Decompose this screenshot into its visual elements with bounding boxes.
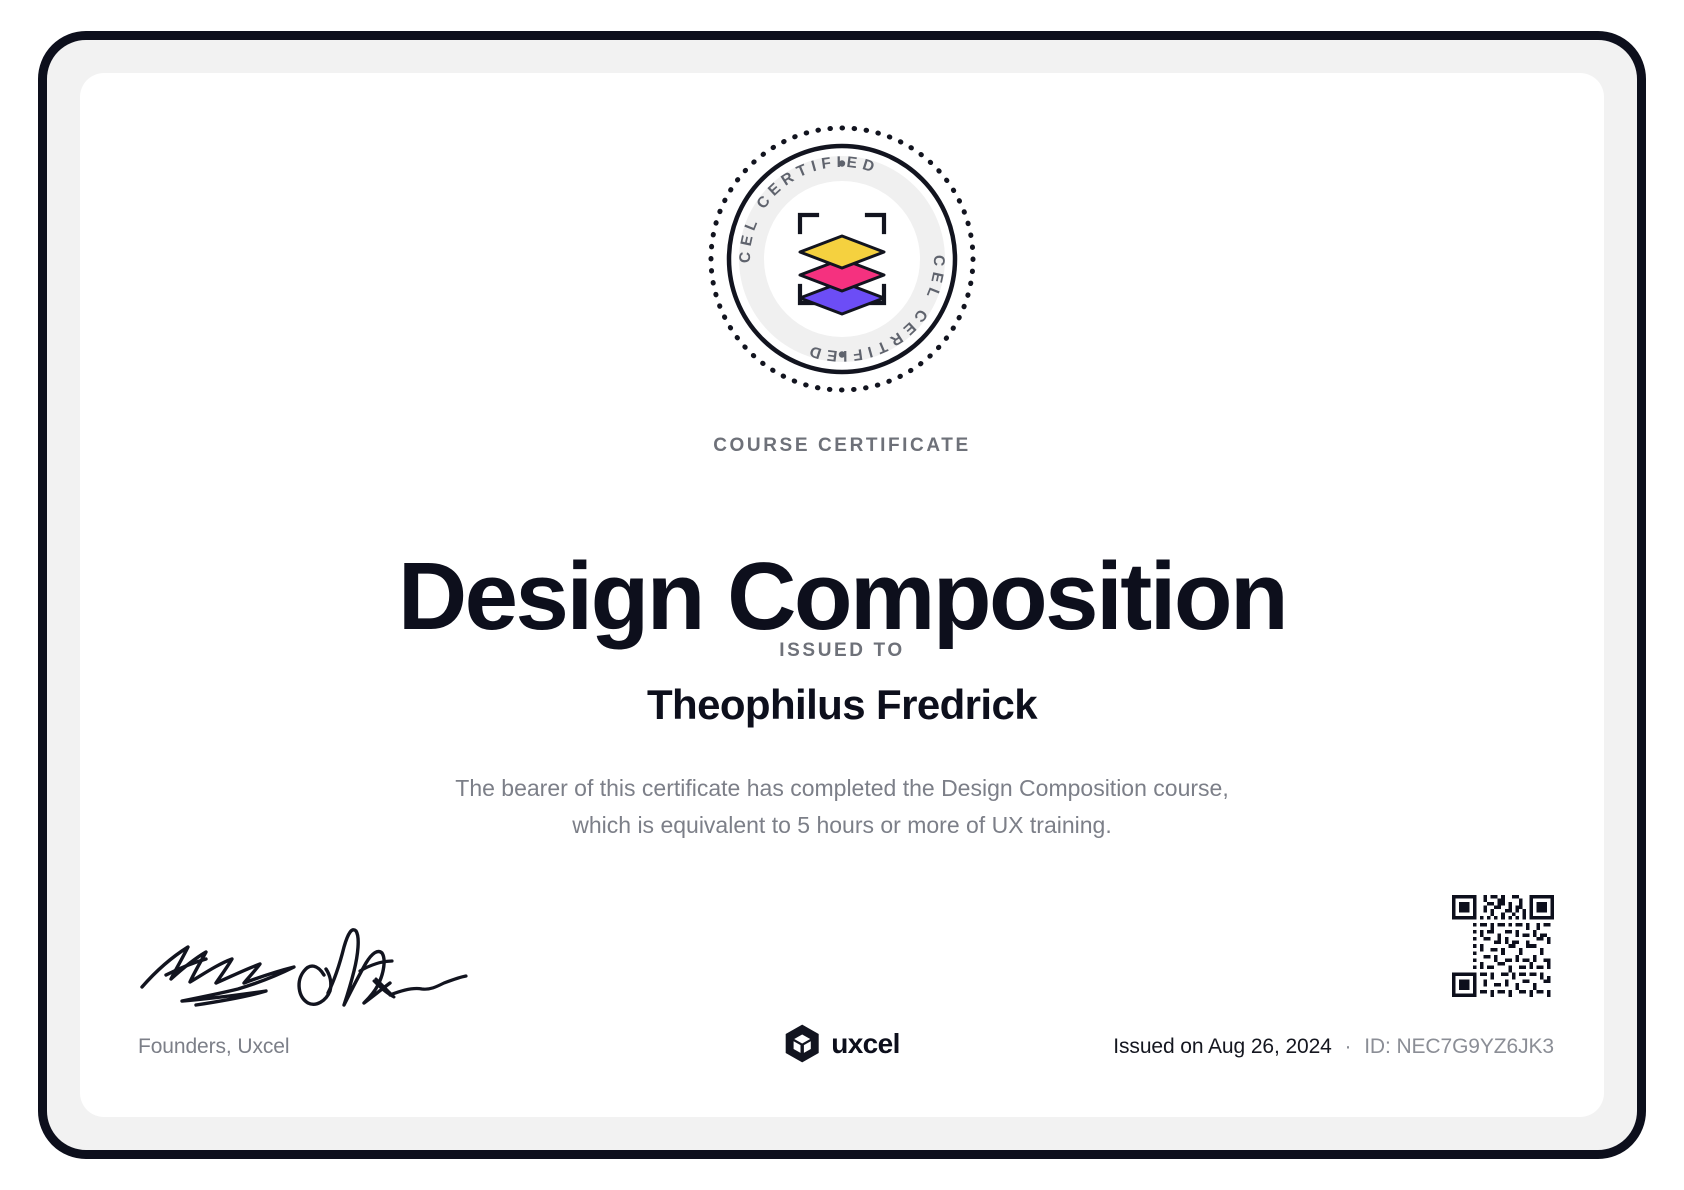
kicker-course-certificate: COURSE CERTIFICATE: [80, 435, 1604, 457]
issue-metadata: Issued on Aug 26, 2024 · ID: NEC7G9YZ6JK…: [1113, 1035, 1554, 1059]
page-title: Design Composition: [80, 547, 1604, 648]
uxcel-brand-lockup: uxcel: [784, 1024, 900, 1063]
recipient-name: Theophilus Fredrick: [80, 681, 1604, 729]
seal-layers-icon: [800, 236, 884, 314]
uxcel-hexagon-cube-icon: [784, 1024, 820, 1063]
description-line-2: which is equivalent to 5 hours or more o…: [80, 807, 1604, 844]
seal-dot-bottom: [839, 351, 845, 357]
certificate-id: ID: NEC7G9YZ6JK3: [1364, 1035, 1554, 1058]
certificate-frame: UXCEL CERTIFIED UXCEL CERTIFIED: [38, 31, 1646, 1159]
seal-dot-top: [839, 160, 845, 166]
founders-label: Founders, Uxcel: [138, 1035, 289, 1059]
verification-qr-code[interactable]: [1452, 895, 1554, 997]
issued-on-date: Issued on Aug 26, 2024: [1113, 1035, 1332, 1058]
brand-name: uxcel: [831, 1028, 900, 1060]
certificate-card: UXCEL CERTIFIED UXCEL CERTIFIED: [80, 73, 1604, 1117]
separator-dot: ·: [1338, 1035, 1359, 1058]
uxcel-certified-seal: UXCEL CERTIFIED UXCEL CERTIFIED: [704, 121, 980, 397]
certificate-description: The bearer of this certificate has compl…: [80, 770, 1604, 844]
founder-signatures: [138, 919, 468, 1009]
kicker-issued-to: ISSUED TO: [80, 640, 1604, 662]
description-line-1: The bearer of this certificate has compl…: [80, 770, 1604, 807]
